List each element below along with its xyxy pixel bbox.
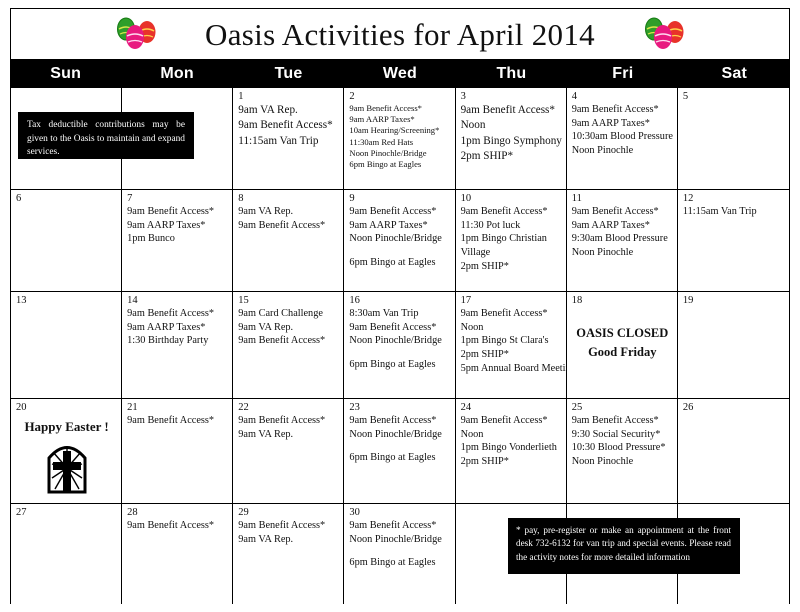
event-item[interactable]: 9am Benefit Access*	[461, 307, 562, 321]
event-item[interactable]: Noon	[461, 428, 562, 442]
day-cell-7[interactable]: 79am Benefit Access*9am AARP Taxes*1pm B…	[122, 190, 233, 292]
event-item[interactable]: Noon Pinochle/Bridge	[349, 148, 450, 159]
event-item[interactable]: 6pm Bingo at Eagles	[349, 451, 450, 465]
day-number: 29	[238, 507, 339, 518]
weekday-header-thu: Thu	[456, 60, 567, 88]
event-list: 11:15am Van Trip	[683, 205, 785, 219]
event-list: 9am Benefit Access*	[127, 519, 228, 533]
event-item[interactable]: 9am AARP Taxes*	[349, 219, 450, 233]
day-cell-8[interactable]: 89am VA Rep.9am Benefit Access*	[233, 190, 344, 292]
day-cell-3[interactable]: 39am Benefit Access*Noon1pm Bingo Sympho…	[456, 88, 567, 190]
event-item[interactable]: 9:30am Blood Pressure	[572, 232, 673, 246]
event-item[interactable]: 9am Benefit Access*	[127, 414, 228, 428]
event-item[interactable]: 11:15am Van Trip	[238, 134, 339, 149]
day-cell-5[interactable]: 5	[678, 88, 789, 190]
event-item[interactable]: 9am Benefit Access*	[349, 519, 450, 533]
day-cell-16[interactable]: 168:30am Van Trip9am Benefit Access*Noon…	[344, 292, 455, 399]
event-list: 9am Benefit Access*	[127, 414, 228, 428]
day-number: 23	[349, 402, 450, 413]
day-cell-22[interactable]: 229am Benefit Access*9am VA Rep.	[233, 399, 344, 504]
event-item[interactable]: 6pm Bingo at Eagles	[349, 256, 450, 270]
event-item[interactable]: 10:30 Blood Pressure*	[572, 441, 673, 455]
day-cell-19[interactable]: 19	[678, 292, 789, 399]
event-item[interactable]: 1:30 Birthday Party	[127, 334, 228, 348]
event-item[interactable]: 9am Benefit Access*	[572, 205, 673, 219]
tax-deductible-note: Tax deductible contributions may be give…	[18, 112, 194, 159]
event-item[interactable]: 6pm Bingo at Eagles	[349, 556, 450, 570]
event-item[interactable]: 9am Benefit Access*	[238, 118, 339, 133]
weekday-header-wed: Wed	[344, 60, 455, 88]
event-item[interactable]: 9:30 Social Security*	[572, 428, 673, 442]
day-number: 8	[238, 193, 339, 204]
day-cell-9[interactable]: 99am Benefit Access*9am AARP Taxes*Noon …	[344, 190, 455, 292]
day-number: 26	[683, 402, 785, 413]
event-item[interactable]: 10am Hearing/Screening*	[349, 125, 450, 136]
happy-easter-label: Happy Easter !	[16, 419, 117, 435]
day-cell-26[interactable]: 26	[678, 399, 789, 504]
day-number: 3	[461, 91, 562, 102]
event-list: 9am Benefit Access*9am AARP Taxes*Noon P…	[349, 205, 450, 270]
event-item[interactable]: 9am AARP Taxes*	[572, 219, 673, 233]
day-cell-24[interactable]: 249am Benefit Access*Noon1pm Bingo Vonde…	[456, 399, 567, 504]
event-list: 9am Benefit Access*9am VA Rep.	[238, 519, 339, 546]
event-item[interactable]: 9am AARP Taxes*	[127, 219, 228, 233]
event-item[interactable]: 2pm SHIP*	[461, 260, 562, 274]
event-spacer	[349, 546, 450, 556]
event-list: 9am Benefit Access*Noon Pinochle/Bridge6…	[349, 519, 450, 570]
event-item[interactable]: 11:30 Pot luck	[461, 219, 562, 233]
event-list: 9am Benefit Access*Noon1pm Bingo Vonderl…	[461, 414, 562, 469]
day-cell-28[interactable]: 289am Benefit Access*	[122, 504, 233, 604]
day-number: 9	[349, 193, 450, 204]
legend-note: * pay, pre-register or make an appointme…	[508, 518, 740, 574]
event-item[interactable]: 9am AARP Taxes*	[572, 117, 673, 131]
page-title: Oasis Activities for April 2014	[205, 19, 595, 50]
day-cell-2[interactable]: 29am Benefit Access*9am AARP Taxes*10am …	[344, 88, 455, 190]
event-list: 9am Benefit Access*9am AARP Taxes*10:30a…	[572, 103, 673, 158]
day-number: 1	[238, 91, 339, 102]
event-item[interactable]: Noon Pinochle	[572, 246, 673, 260]
event-item[interactable]: 10:30am Blood Pressure	[572, 130, 673, 144]
event-item[interactable]: 9am VA Rep.	[238, 533, 339, 547]
day-cell-13[interactable]: 13	[11, 292, 122, 399]
event-spacer	[349, 441, 450, 451]
event-item[interactable]: 1pm Bingo Symphony	[461, 134, 562, 149]
day-number: 18	[572, 295, 673, 306]
event-item[interactable]: 2pm SHIP*	[461, 149, 562, 164]
event-item[interactable]: 2pm SHIP*	[461, 348, 562, 362]
day-cell-20[interactable]: 20Happy Easter !	[11, 399, 122, 504]
event-item[interactable]: Noon Pinochle	[572, 455, 673, 469]
event-list: 9am VA Rep.9am Benefit Access*	[238, 205, 339, 232]
day-number: 25	[572, 402, 673, 413]
event-item[interactable]: Noon Pinochle/Bridge	[349, 533, 450, 547]
calendar-page: Oasis Activities for April 2014 Sun Mon …	[0, 0, 800, 612]
weekday-header-sun: Sun	[10, 60, 121, 88]
closed-line: OASIS CLOSED	[572, 324, 673, 343]
event-list: 9am Benefit Access*9am AARP Taxes*9:30am…	[572, 205, 673, 260]
event-item[interactable]: 9am Benefit Access*	[127, 519, 228, 533]
weekday-header-tue: Tue	[233, 60, 344, 88]
day-cell-27[interactable]: 27	[11, 504, 122, 604]
event-item[interactable]: Noon Pinochle	[572, 144, 673, 158]
event-spacer	[349, 246, 450, 256]
weekday-header-mon: Mon	[121, 60, 232, 88]
event-item[interactable]: 9am Benefit Access*	[349, 321, 450, 335]
day-number: 10	[461, 193, 562, 204]
event-item[interactable]: Village	[461, 246, 562, 260]
day-number: 27	[16, 507, 117, 518]
event-item[interactable]: 9am VA Rep.	[238, 103, 339, 118]
event-item[interactable]: 9am VA Rep.	[238, 428, 339, 442]
event-item[interactable]: 9am Benefit Access*	[349, 414, 450, 428]
weekday-header-fri: Fri	[567, 60, 678, 88]
day-number: 2	[349, 91, 450, 102]
event-item[interactable]: 9am Benefit Access*	[238, 414, 339, 428]
day-number: 22	[238, 402, 339, 413]
event-list: 9am Benefit Access*11:30 Pot luck1pm Bin…	[461, 205, 562, 273]
event-list: 9am Benefit Access*9am AARP Taxes*1pm Bu…	[127, 205, 228, 246]
event-item[interactable]: Noon	[461, 321, 562, 335]
event-item[interactable]: 1pm Bingo Christian	[461, 232, 562, 246]
event-item[interactable]: Noon Pinochle/Bridge	[349, 428, 450, 442]
day-number: 15	[238, 295, 339, 306]
event-list: 9am VA Rep.9am Benefit Access*11:15am Va…	[238, 103, 339, 149]
event-item[interactable]: 2pm SHIP*	[461, 455, 562, 469]
event-item[interactable]: 9am Benefit Access*	[572, 103, 673, 117]
event-item[interactable]: 11:15am Van Trip	[683, 205, 785, 219]
day-number: 11	[572, 193, 673, 204]
day-cell-25[interactable]: 259am Benefit Access*9:30 Social Securit…	[567, 399, 678, 504]
easter-eggs-icon-right	[641, 17, 687, 51]
event-item[interactable]: 9am Benefit Access*	[238, 519, 339, 533]
event-item[interactable]: 1pm Bingo St Clara's	[461, 334, 562, 348]
event-item[interactable]: 9am Benefit Access*	[461, 205, 562, 219]
event-item[interactable]: 1pm Bingo Vonderlieth	[461, 441, 562, 455]
event-item[interactable]: 5pm Annual Board Meeting	[461, 362, 562, 376]
day-number: 16	[349, 295, 450, 306]
day-cell-30[interactable]: 309am Benefit Access*Noon Pinochle/Bridg…	[344, 504, 455, 604]
event-list: 9am Benefit Access*9am AARP Taxes*1:30 B…	[127, 307, 228, 348]
day-cell-6[interactable]: 6	[11, 190, 122, 292]
day-cell-12[interactable]: 1211:15am Van Trip	[678, 190, 789, 292]
event-item[interactable]: 9am VA Rep.	[238, 321, 339, 335]
day-number: 17	[461, 295, 562, 306]
event-item[interactable]: 9am VA Rep.	[238, 205, 339, 219]
day-cell-4[interactable]: 49am Benefit Access*9am AARP Taxes*10:30…	[567, 88, 678, 190]
event-item[interactable]: 9am Benefit Access*	[127, 307, 228, 321]
event-item[interactable]: 9am Benefit Access*	[572, 414, 673, 428]
weekday-header-sat: Sat	[679, 60, 790, 88]
calendar-title-banner: Oasis Activities for April 2014	[10, 8, 790, 60]
event-item[interactable]: 9am Card Challenge	[238, 307, 339, 321]
weekday-header-row: Sun Mon Tue Wed Thu Fri Sat	[10, 60, 790, 88]
event-list: 8:30am Van Trip9am Benefit Access*Noon P…	[349, 307, 450, 372]
day-cell-1[interactable]: 19am VA Rep.9am Benefit Access*11:15am V…	[233, 88, 344, 190]
day-number: 6	[16, 193, 117, 204]
event-item[interactable]: Noon Pinochle/Bridge	[349, 232, 450, 246]
event-list: 9am Benefit Access*9am AARP Taxes*10am H…	[349, 103, 450, 170]
event-item[interactable]: 9am Benefit Access*	[349, 103, 450, 114]
day-number: 4	[572, 91, 673, 102]
event-item[interactable]: Noon	[461, 118, 562, 133]
event-item[interactable]: 6pm Bingo at Eagles	[349, 358, 450, 372]
day-number: 30	[349, 507, 450, 518]
day-number: 21	[127, 402, 228, 413]
day-number: 7	[127, 193, 228, 204]
day-cell-29[interactable]: 299am Benefit Access*9am VA Rep.	[233, 504, 344, 604]
day-number: 28	[127, 507, 228, 518]
closed-line: Good Friday	[572, 343, 673, 362]
event-item[interactable]: 9am AARP Taxes*	[349, 114, 450, 125]
day-cell-23[interactable]: 239am Benefit Access*Noon Pinochle/Bridg…	[344, 399, 455, 504]
event-item[interactable]: 9am Benefit Access*	[461, 103, 562, 118]
event-item[interactable]: 9am AARP Taxes*	[127, 321, 228, 335]
event-spacer	[349, 348, 450, 358]
day-cell-11[interactable]: 119am Benefit Access*9am AARP Taxes*9:30…	[567, 190, 678, 292]
event-item[interactable]: 9am Benefit Access*	[238, 219, 339, 233]
event-item[interactable]: 9am Benefit Access*	[349, 205, 450, 219]
event-list: 9am Card Challenge9am VA Rep.9am Benefit…	[238, 307, 339, 348]
oasis-closed-notice: OASIS CLOSEDGood Friday	[572, 324, 673, 362]
event-item[interactable]: Noon Pinochle/Bridge	[349, 334, 450, 348]
event-list: 9am Benefit Access*Noon Pinochle/Bridge6…	[349, 414, 450, 465]
event-list: 9am Benefit Access*Noon1pm Bingo Symphon…	[461, 103, 562, 165]
day-cell-21[interactable]: 219am Benefit Access*	[122, 399, 233, 504]
day-number: 19	[683, 295, 785, 306]
event-list: 9am Benefit Access*9am VA Rep.	[238, 414, 339, 441]
day-number: 24	[461, 402, 562, 413]
easter-cross-window-icon	[16, 438, 117, 494]
event-item[interactable]: 11:30am Red Hats	[349, 137, 450, 148]
event-item[interactable]: 8:30am Van Trip	[349, 307, 450, 321]
day-cell-14[interactable]: 149am Benefit Access*9am AARP Taxes*1:30…	[122, 292, 233, 399]
day-number: 13	[16, 295, 117, 306]
day-cell-10[interactable]: 109am Benefit Access*11:30 Pot luck1pm B…	[456, 190, 567, 292]
day-cell-15[interactable]: 159am Card Challenge9am VA Rep.9am Benef…	[233, 292, 344, 399]
day-number: 20	[16, 402, 117, 413]
day-number: 12	[683, 193, 785, 204]
easter-eggs-icon-left	[113, 17, 159, 51]
day-number: 5	[683, 91, 785, 102]
event-item[interactable]: 9am Benefit Access*	[238, 334, 339, 348]
day-cell-17[interactable]: 179am Benefit Access*Noon1pm Bingo St Cl…	[456, 292, 567, 399]
event-list: 9am Benefit Access*9:30 Social Security*…	[572, 414, 673, 469]
event-item[interactable]: 9am Benefit Access*	[461, 414, 562, 428]
day-number: 14	[127, 295, 228, 306]
event-list: 9am Benefit Access*Noon1pm Bingo St Clar…	[461, 307, 562, 375]
event-item[interactable]: 6pm Bingo at Eagles	[349, 159, 450, 170]
day-cell-18[interactable]: 18OASIS CLOSEDGood Friday	[567, 292, 678, 399]
event-item[interactable]: 9am Benefit Access*	[127, 205, 228, 219]
event-item[interactable]: 1pm Bunco	[127, 232, 228, 246]
